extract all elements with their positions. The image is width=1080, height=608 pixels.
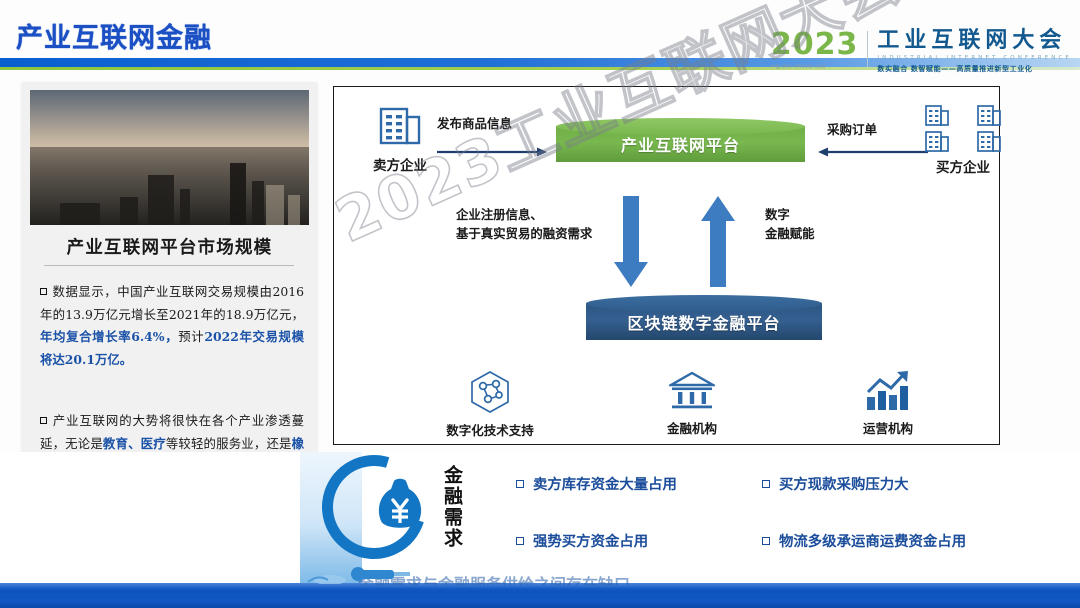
need-item: 卖方库存资金大量占用 [516, 473, 762, 494]
down-flow-line-2: 基于真实贸易的融资需求 [456, 225, 592, 244]
bar-chart-up-icon [864, 370, 912, 412]
arrow-down-icon [613, 196, 649, 288]
bullet-square-icon [762, 537, 770, 545]
logo-tagline: 数实融合 数智赋能——高质量推进新型工业化 [877, 64, 1072, 74]
photo-building-lit [266, 185, 284, 225]
photo-building [180, 189, 190, 225]
photo-building [120, 197, 138, 225]
logo-name-cn: 工业互联网大会 [877, 30, 1072, 52]
logo-year-block: 2023 中国·苏州 9月11日-13日 [771, 30, 859, 70]
up-flow-line-1: 数字 [765, 206, 815, 225]
bullet-square-icon [762, 480, 770, 488]
slide-root: 产业互联网金融 2023 中国·苏州 9月11日-13日 工业互联网大会 IND… [0, 0, 1080, 608]
photo-building [252, 181, 264, 225]
need-label: 强势买方资金占用 [533, 530, 648, 551]
bullet-emphasis: 教育、医疗 [103, 436, 166, 451]
seller-node: 卖方企业 [355, 103, 445, 174]
bullet-plain: 等较轻的服务业，还是 [166, 436, 292, 451]
bullet-square-icon [516, 480, 524, 488]
cityscape-photo [30, 90, 309, 225]
logo-name-en: INDUSTRIAL INTERNET CONFERENCE [877, 55, 1072, 61]
conference-logo: 2023 中国·苏州 9月11日-13日 工业互联网大会 INDUSTRIAL … [771, 30, 1072, 74]
panel-title-divider [44, 265, 294, 266]
logo-year-subtitle: 中国·苏州 9月11日-13日 [771, 64, 859, 70]
logo-year: 2023 [771, 30, 859, 60]
blue-platform-label: 区块链数字金融平台 [586, 310, 822, 334]
node-operating-institution: 运营机构 [818, 370, 958, 437]
financial-needs-list: 卖方库存资金大量占用 买方现款采购压力大 强势买方资金占用 物流多级承运商运费资… [516, 473, 1076, 551]
building-icon [976, 129, 1002, 153]
page-title: 产业互联网金融 [16, 16, 212, 55]
need-label: 买方现款采购压力大 [779, 473, 909, 494]
up-flow-label: 数字 金融赋能 [765, 206, 815, 243]
arrow-up-icon [700, 196, 736, 288]
building-icon [377, 103, 423, 147]
buyer-icon-grid [915, 103, 1011, 153]
arrow-publish-label: 发布商品信息 [437, 113, 512, 132]
arrow-order-label: 采购订单 [827, 119, 877, 138]
bottom-banner [0, 583, 1080, 608]
building-icon [924, 129, 950, 153]
photo-building [148, 175, 174, 225]
arrow-left-icon [818, 147, 928, 157]
down-flow-label: 企业注册信息、 基于真实贸易的融资需求 [456, 206, 592, 243]
bullet-emphasis: 年均复合增长率6.4%， [40, 329, 178, 344]
bullet-text-1: 数据显示，中国产业互联网交易规模由2016年的13.9万亿元增长至2021年的1… [40, 284, 304, 367]
need-item: 物流多级承运商运费资金占用 [762, 530, 1076, 551]
money-bag-yen-icon [374, 477, 426, 533]
need-item: 买方现款采购压力大 [762, 473, 1076, 494]
node-digital-tech-support: 数字化技术支持 [420, 370, 560, 439]
node-label: 运营机构 [818, 418, 958, 437]
seller-label: 卖方企业 [355, 154, 445, 174]
bullet-square-icon [40, 288, 47, 295]
buyer-node: 买方企业 [915, 103, 1011, 176]
photo-building-lit [288, 195, 300, 225]
buyer-label: 买方企业 [915, 156, 1011, 176]
need-item: 强势买方资金占用 [516, 530, 762, 551]
industrial-internet-platform-cylinder: 产业互联网平台 [556, 118, 805, 172]
node-label: 金融机构 [622, 418, 762, 437]
logo-divider [867, 31, 868, 67]
financial-need-label: 金融需求 [436, 465, 462, 549]
photo-building [60, 203, 100, 225]
panel-title: 产业互联网平台市场规模 [22, 234, 317, 259]
bullet-plain: 预计 [178, 329, 204, 344]
bottom-decor-graphic [300, 556, 480, 584]
network-hex-icon [469, 370, 511, 414]
up-flow-line-2: 金融赋能 [765, 225, 815, 244]
building-icon [924, 103, 950, 127]
bullet-item: 数据显示，中国产业互联网交易规模由2016年的13.9万亿元增长至2021年的1… [40, 281, 304, 371]
photo-sky [30, 90, 309, 152]
down-flow-line-1: 企业注册信息、 [456, 206, 592, 225]
photo-building [230, 163, 246, 225]
logo-name-block: 工业互联网大会 INDUSTRIAL INTERNET CONFERENCE 数… [877, 30, 1072, 74]
green-platform-label: 产业互联网平台 [556, 132, 805, 156]
node-financial-institution: 金融机构 [622, 370, 762, 437]
building-icon [976, 103, 1002, 127]
blockchain-finance-platform-cylinder: 区块链数字金融平台 [586, 295, 822, 351]
bullet-square-icon [40, 417, 47, 424]
arrow-right-icon [437, 147, 547, 157]
bank-icon [669, 370, 715, 412]
node-label: 数字化技术支持 [420, 420, 560, 439]
bullet-square-icon [516, 537, 524, 545]
need-label: 卖方库存资金大量占用 [533, 473, 677, 494]
bullet-plain: 数据显示，中国产业互联网交易规模由2016年的13.9万亿元增长至2021年的1… [40, 284, 304, 322]
need-label: 物流多级承运商运费资金占用 [779, 530, 966, 551]
